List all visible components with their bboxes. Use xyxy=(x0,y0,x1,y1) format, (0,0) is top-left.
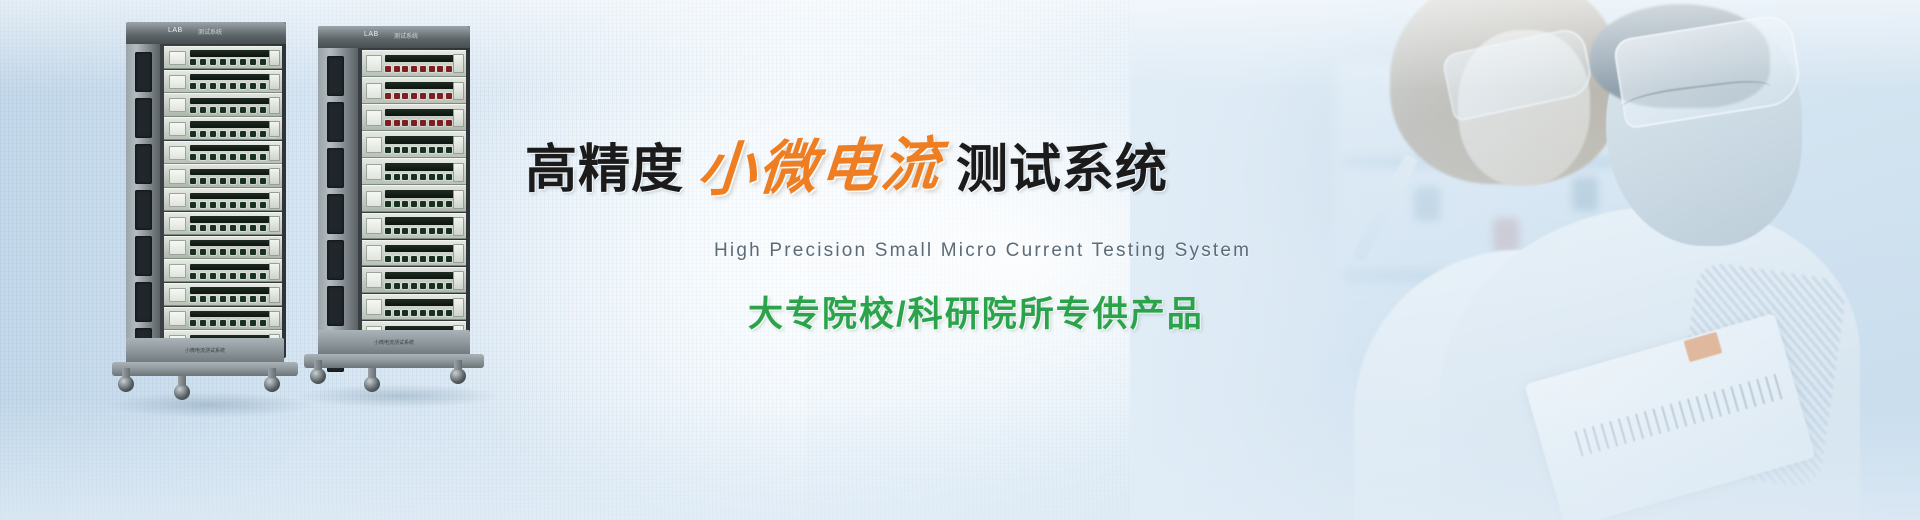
headline-accent: 小微电流 xyxy=(681,134,958,199)
headline: 高精度 小微电流 测试系统 xyxy=(525,138,1168,196)
headline-suffix: 测试系统 xyxy=(956,144,1168,196)
headline-prefix: 高精度 xyxy=(525,144,684,196)
tagline-chinese: 大专院校/科研院所专供产品 xyxy=(748,286,1204,337)
subtitle-english: High Precision Small Micro Current Testi… xyxy=(714,240,1251,262)
promo-banner: LAB 测试系统 小微电流测试系统 LAB 测试系统 小微电流测试系统 高精度 … xyxy=(0,0,1920,520)
banner-copy: 高精度 小微电流 测试系统 High Precision Small Micro… xyxy=(0,0,1920,520)
